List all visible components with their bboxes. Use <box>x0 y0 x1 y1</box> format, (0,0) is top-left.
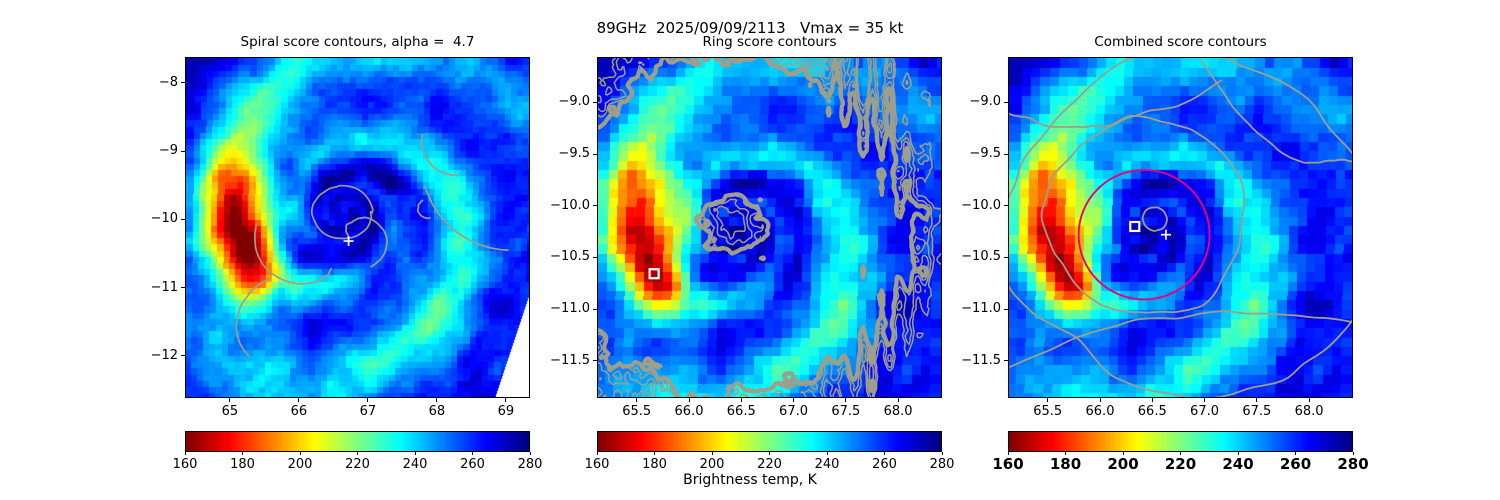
y-tick-label: −9.5 <box>914 146 1001 161</box>
figure-canvas: 89GHz 2025/09/09/2113 Vmax = 35 kt Spira… <box>0 0 1500 500</box>
contours-combined <box>1009 58 1352 397</box>
x-tick-label: 68.0 <box>1269 404 1349 419</box>
x-tick-mark <box>636 398 637 402</box>
y-tick-mark <box>1004 154 1008 155</box>
x-tick-mark <box>1047 398 1048 402</box>
y-tick-mark <box>593 154 597 155</box>
colorbar-tick-mark <box>827 452 828 455</box>
y-tick-mark <box>593 360 597 361</box>
x-tick-mark <box>689 398 690 402</box>
y-tick-label: −12 <box>91 348 178 363</box>
center-plus-marker <box>1161 230 1171 240</box>
y-tick-label: −11.5 <box>914 353 1001 368</box>
colorbar-tick-mark <box>597 452 598 455</box>
x-tick-mark <box>1256 398 1257 402</box>
y-tick-mark <box>181 82 185 83</box>
y-tick-label: −9.0 <box>914 94 1001 109</box>
colorbar-tick-mark <box>654 452 655 455</box>
x-tick-mark <box>1152 398 1153 402</box>
y-tick-label: −10.5 <box>914 249 1001 264</box>
x-tick-mark <box>1309 398 1310 402</box>
center-square-marker <box>650 269 659 278</box>
y-tick-label: −9.0 <box>503 94 590 109</box>
x-tick-mark <box>367 398 368 402</box>
y-tick-mark <box>1004 360 1008 361</box>
colorbar-axis-label: Brightness temp, K <box>0 472 1500 488</box>
colorbar-spiral[interactable] <box>185 431 530 452</box>
x-tick-mark <box>741 398 742 402</box>
x-tick-mark <box>1204 398 1205 402</box>
colorbar-tick-mark <box>769 452 770 455</box>
y-tick-label: −10 <box>91 211 178 226</box>
y-tick-mark <box>593 102 597 103</box>
x-tick-label: 68 <box>397 404 477 419</box>
y-tick-label: −11.0 <box>503 301 590 316</box>
colorbar-tick-mark <box>415 452 416 455</box>
y-tick-mark <box>181 355 185 356</box>
contours-spiral <box>186 58 529 397</box>
y-tick-mark <box>181 151 185 152</box>
x-tick-label: 65 <box>190 404 270 419</box>
x-tick-mark <box>436 398 437 402</box>
y-tick-label: −10.5 <box>503 249 590 264</box>
y-tick-mark <box>1004 309 1008 310</box>
panel-ring[interactable] <box>597 57 942 398</box>
colorbar-tick-label: 280 <box>1313 455 1393 473</box>
x-tick-label: 67 <box>328 404 408 419</box>
y-tick-mark <box>1004 102 1008 103</box>
panel-combined[interactable] <box>1008 57 1353 398</box>
colorbar-tick-mark <box>884 452 885 455</box>
y-tick-mark <box>593 309 597 310</box>
y-tick-mark <box>181 219 185 220</box>
colorbar-tick-mark <box>712 452 713 455</box>
x-tick-label: 68.0 <box>858 404 938 419</box>
colorbar-tick-mark <box>357 452 358 455</box>
contours-ring <box>598 58 941 397</box>
x-tick-mark <box>845 398 846 402</box>
panel-title-combined: Combined score contours <box>1008 34 1353 50</box>
colorbar-tick-mark <box>300 452 301 455</box>
x-tick-label: 69 <box>466 404 546 419</box>
center-square-marker <box>1130 222 1139 231</box>
y-tick-mark <box>593 257 597 258</box>
y-tick-label: −9 <box>91 143 178 158</box>
y-tick-label: −9.5 <box>503 146 590 161</box>
y-tick-label: −11 <box>91 280 178 295</box>
y-tick-label: −10.0 <box>503 198 590 213</box>
x-tick-mark <box>229 398 230 402</box>
colorbar-gradient <box>186 432 529 451</box>
y-tick-label: −11.5 <box>503 353 590 368</box>
colorbar-tick-mark <box>242 452 243 455</box>
y-tick-mark <box>1004 257 1008 258</box>
y-tick-label: −8 <box>91 75 178 90</box>
colorbar-tick-mark <box>185 452 186 455</box>
colorbar-gradient <box>598 432 941 451</box>
colorbar-combined[interactable] <box>1008 431 1353 452</box>
colorbar-tick-mark <box>942 452 943 455</box>
y-tick-mark <box>181 287 185 288</box>
x-tick-mark <box>505 398 506 402</box>
y-tick-label: −10.0 <box>914 198 1001 213</box>
colorbar-tick-mark <box>472 452 473 455</box>
panel-title-ring: Ring score contours <box>597 34 942 50</box>
y-tick-mark <box>1004 205 1008 206</box>
x-tick-mark <box>298 398 299 402</box>
x-tick-mark <box>1100 398 1101 402</box>
magenta-search-circle <box>1079 170 1210 299</box>
panel-spiral[interactable] <box>185 57 530 398</box>
x-tick-mark <box>898 398 899 402</box>
colorbar-tick-mark <box>530 452 531 455</box>
y-tick-label: −11.0 <box>914 301 1001 316</box>
y-tick-mark <box>593 205 597 206</box>
colorbar-ring[interactable] <box>597 431 942 452</box>
colorbar-gradient <box>1009 432 1352 451</box>
x-tick-mark <box>793 398 794 402</box>
panel-title-spiral: Spiral score contours, alpha = 4.7 <box>185 34 530 50</box>
x-tick-label: 66 <box>259 404 339 419</box>
